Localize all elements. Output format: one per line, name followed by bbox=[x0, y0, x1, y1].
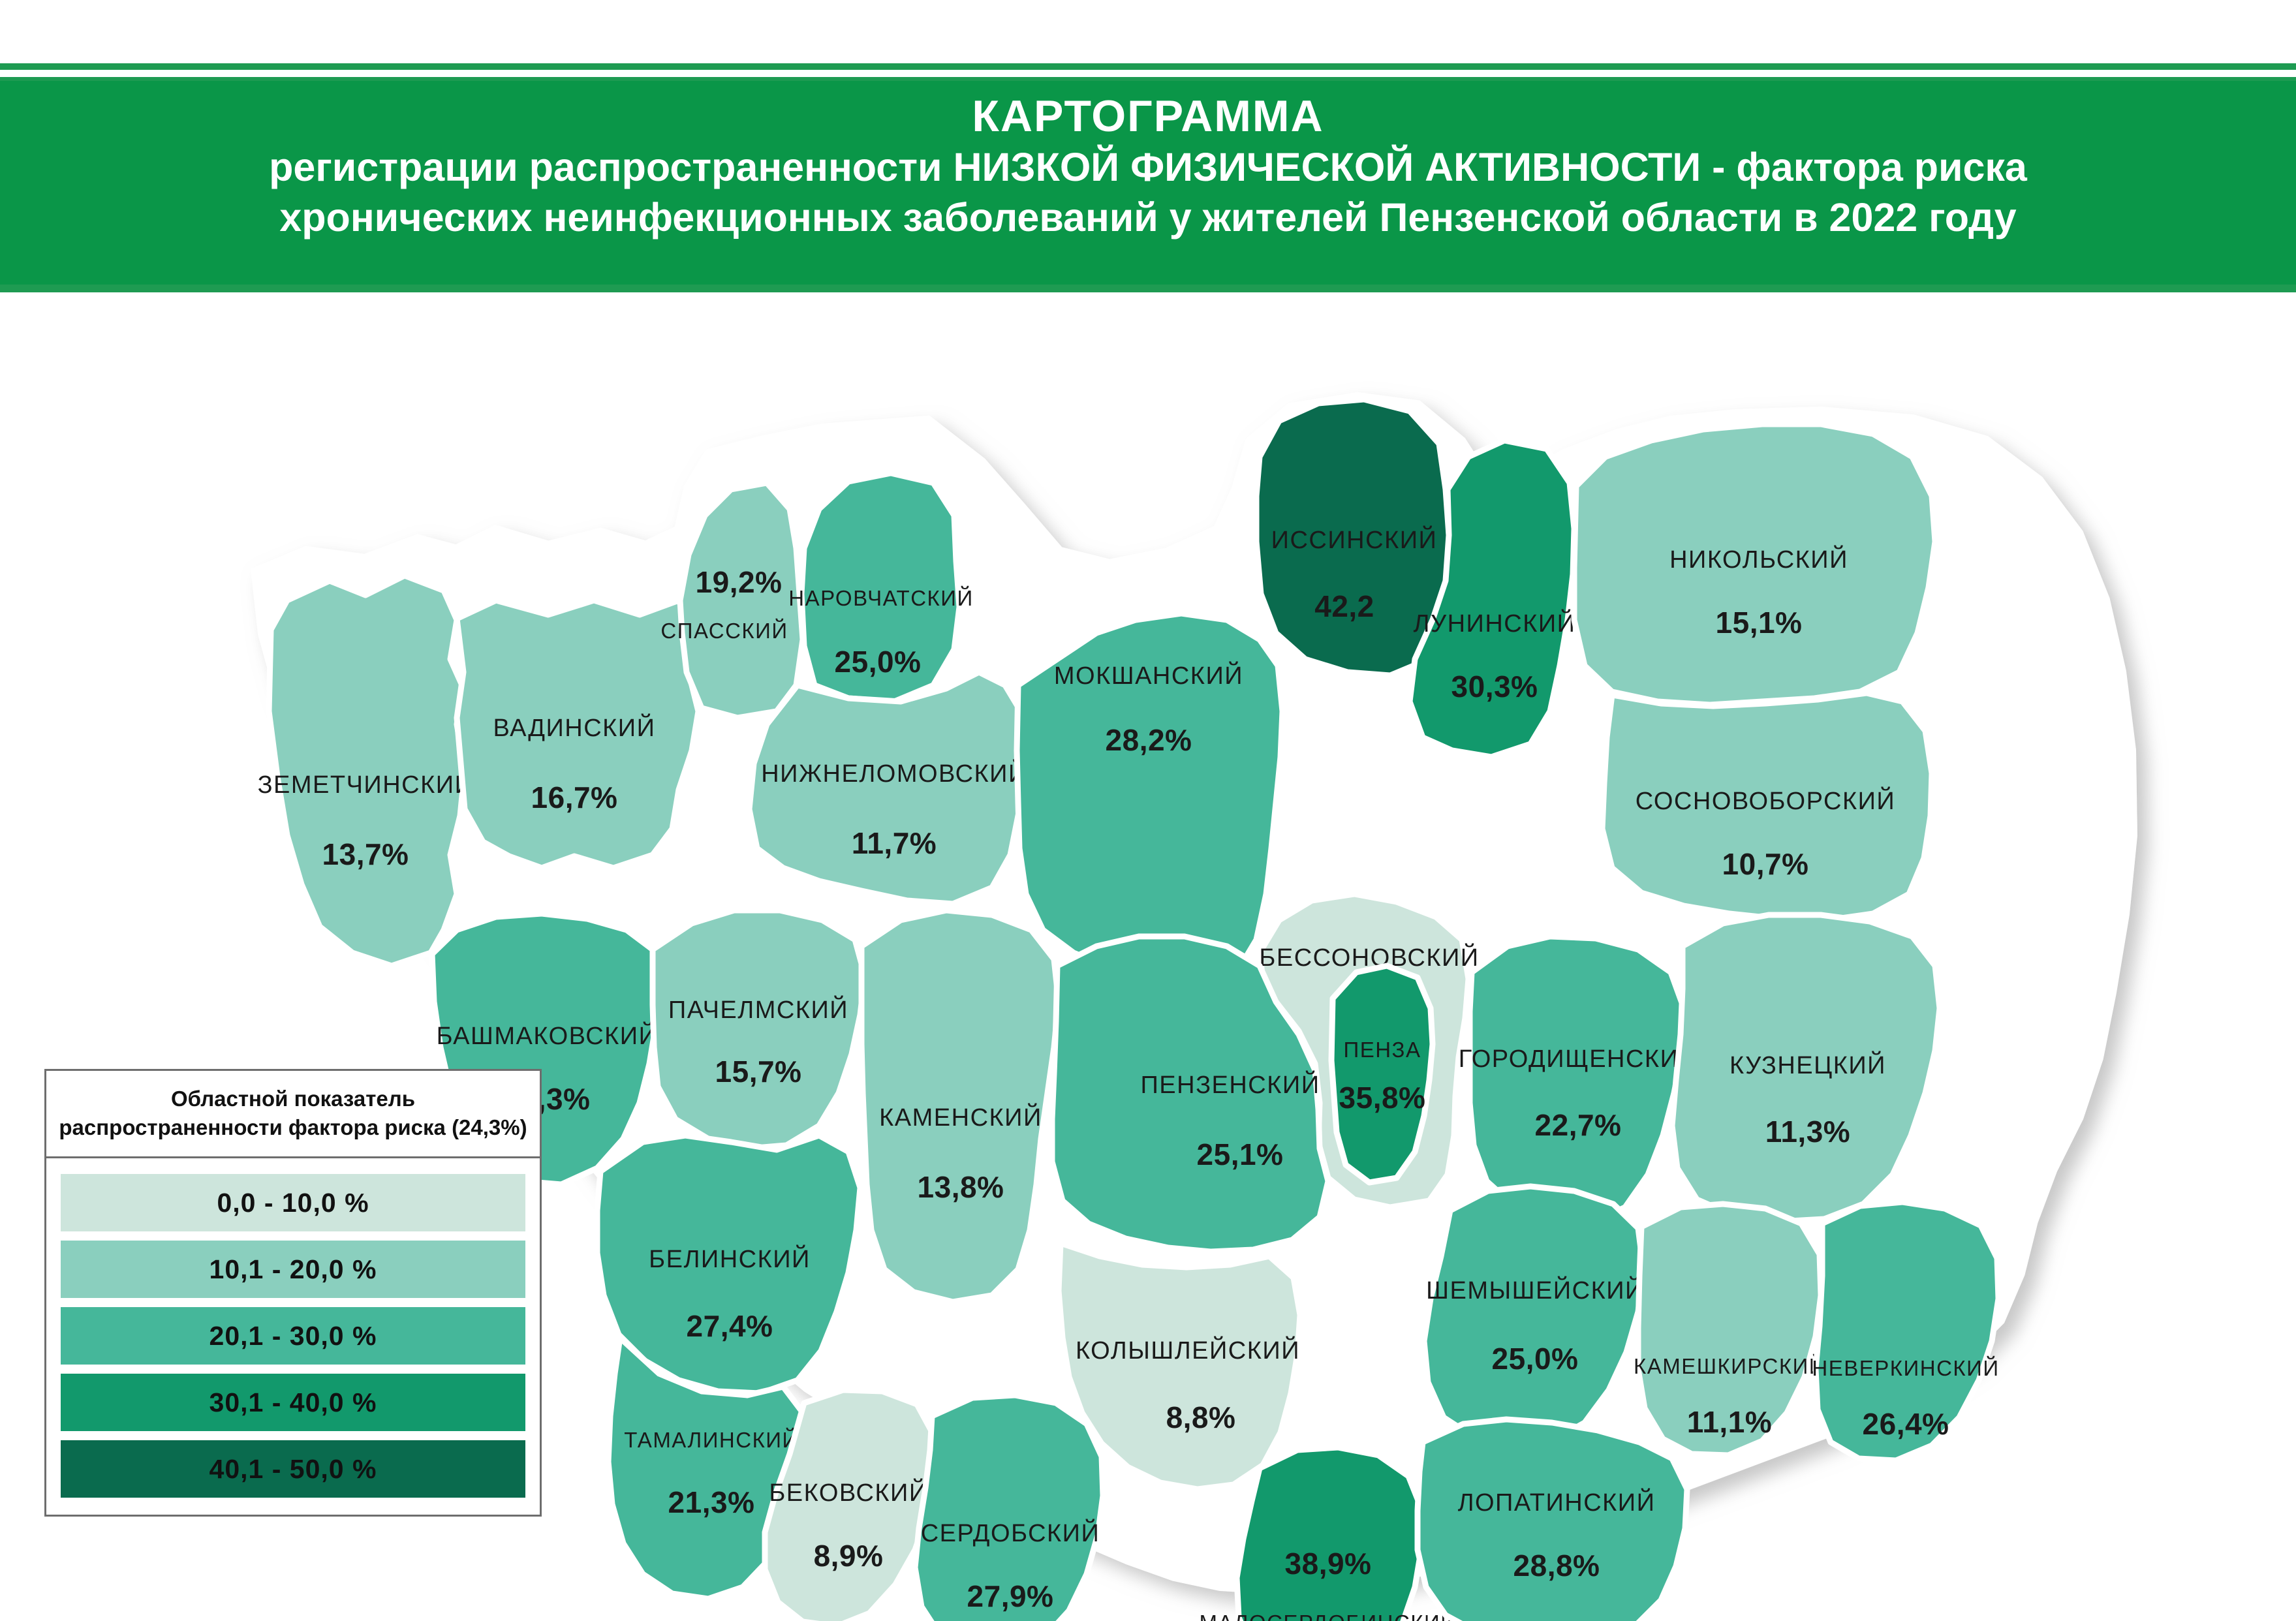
page-title: КАРТОГРАММА bbox=[972, 90, 1324, 142]
legend-header: Областной показатель распространенности … bbox=[46, 1071, 540, 1158]
header-subtitle-line-1: регистрации распространенности НИЗКОЙ ФИ… bbox=[269, 142, 2027, 193]
district-nizhnelomovsky-value: 11,7% bbox=[852, 826, 937, 860]
district-tamalinsky-name: ТАМАЛИНСКИЙ bbox=[624, 1428, 799, 1452]
district-penza-value: 35,8% bbox=[1339, 1081, 1426, 1115]
district-issinsky-name: ИССИНСКИЙ bbox=[1271, 525, 1438, 554]
district-kamensky-value: 13,8% bbox=[918, 1170, 1004, 1204]
legend-row-class-5[interactable]: 40,1 - 50,0 % bbox=[61, 1440, 525, 1498]
district-neverkinsky-name: НЕВЕРКИНСКИЙ bbox=[1812, 1356, 1999, 1380]
header-banner: КАРТОГРАММА регистрации распространеннос… bbox=[0, 81, 2296, 285]
district-issinsky-value: 42,2 bbox=[1314, 589, 1374, 623]
district-luninsky-name: ЛУНИНСКИЙ bbox=[1414, 608, 1576, 638]
district-nikolsky-name: НИКОЛЬСКИЙ bbox=[1669, 544, 1848, 574]
district-tamalinsky-value: 21,3% bbox=[668, 1485, 755, 1519]
legend-label-class-1: 0,0 - 10,0 % bbox=[217, 1188, 369, 1218]
district-narovchatsky-name: НАРОВЧАТСКИЙ bbox=[788, 586, 973, 610]
district-mokshansky-value: 28,2% bbox=[1106, 723, 1192, 757]
district-penzensky-name: ПЕНЗЕНСКИЙ bbox=[1140, 1070, 1320, 1099]
district-neverkinsky[interactable]: НЕВЕРКИНСКИЙ 26,4% bbox=[1812, 1202, 1999, 1460]
legend-label-class-2: 10,1 - 20,0 % bbox=[209, 1254, 377, 1285]
district-narovchatsky-value: 25,0% bbox=[835, 645, 922, 679]
district-maloserdobinsky-name: МАЛОСЕРДОБИНСКИЙ bbox=[1200, 1611, 1457, 1621]
district-zemetchinsky-name: ЗЕМЕТЧИНСКИЙ bbox=[258, 769, 474, 799]
district-neverkinsky-value: 26,4% bbox=[1863, 1407, 1949, 1441]
district-maloserdobinsky-shape[interactable] bbox=[1237, 1447, 1421, 1621]
district-maloserdobinsky-value: 38,9% bbox=[1285, 1547, 1372, 1581]
district-vadinsky-name: ВАДИНСКИЙ bbox=[493, 713, 656, 742]
district-penza-name: ПЕНЗА bbox=[1343, 1038, 1421, 1062]
district-nikolsky-value: 15,1% bbox=[1716, 606, 1803, 640]
district-penzensky-value: 25,1% bbox=[1197, 1137, 1284, 1171]
district-pachelmsky-name: ПАЧЕЛМСКИЙ bbox=[668, 995, 848, 1024]
district-spassky-name: СПАССКИЙ bbox=[660, 619, 788, 643]
district-lopatinsky-name: ЛОПАТИНСКИЙ bbox=[1458, 1487, 1656, 1517]
legend-title-line-2-text: распространенности фактора риска bbox=[59, 1115, 452, 1139]
district-penza[interactable]: ПЕНЗА 35,8% bbox=[1331, 966, 1433, 1182]
legend-row-class-4[interactable]: 30,1 - 40,0 % bbox=[61, 1374, 525, 1431]
district-gorodischensky-value: 22,7% bbox=[1535, 1108, 1622, 1142]
legend-oblast-indicator: (24,3%) bbox=[452, 1115, 527, 1139]
district-zemetchinsky-value: 13,7% bbox=[322, 837, 409, 871]
district-belinsky-name: БЕЛИНСКИЙ bbox=[649, 1244, 811, 1273]
district-vadinsky-value: 16,7% bbox=[531, 780, 618, 814]
district-shemysheysky-name: ШЕМЫШЕЙСКИЙ bbox=[1426, 1275, 1644, 1305]
district-penza-shape[interactable] bbox=[1331, 966, 1433, 1182]
legend-label-class-4: 30,1 - 40,0 % bbox=[209, 1387, 377, 1418]
legend-label-class-3: 20,1 - 30,0 % bbox=[209, 1321, 377, 1351]
district-zemetchinsky-shape[interactable] bbox=[269, 576, 465, 966]
map-legend: Областной показатель распространенности … bbox=[44, 1069, 542, 1517]
legend-label-class-5: 40,1 - 50,0 % bbox=[209, 1454, 377, 1485]
district-zemetchinsky[interactable]: ЗЕМЕТЧИНСКИЙ 13,7% bbox=[258, 576, 474, 966]
district-lopatinsky-value: 28,8% bbox=[1513, 1549, 1600, 1582]
district-kameshkirsky-value: 11,1% bbox=[1687, 1405, 1772, 1439]
district-sosnovoborsky[interactable]: СОСНОВОБОРСКИЙ 10,7% bbox=[1602, 693, 1932, 920]
legend-row-class-1[interactable]: 0,0 - 10,0 % bbox=[61, 1174, 525, 1231]
district-kolyshleysky-value: 8,8% bbox=[1166, 1400, 1236, 1434]
district-sosnovoborsky-name: СОСНОВОБОРСКИЙ bbox=[1636, 786, 1895, 815]
district-serdobsky[interactable]: СЕРДОБСКИЙ 27,9% bbox=[915, 1395, 1103, 1621]
district-shemysheysky-value: 25,0% bbox=[1492, 1342, 1579, 1376]
legend-row-class-3[interactable]: 20,1 - 30,0 % bbox=[61, 1307, 525, 1365]
district-luninsky-value: 30,3% bbox=[1451, 670, 1538, 703]
district-mokshansky[interactable]: МОКШАНСКИЙ 28,2% bbox=[1017, 613, 1282, 984]
district-serdobsky-name: СЕРДОБСКИЙ bbox=[921, 1518, 1100, 1547]
district-bashmakovsky-name: БАШМАКОВСКИЙ bbox=[437, 1021, 658, 1050]
district-kolyshleysky-name: КОЛЫШЛЕЙСКИЙ bbox=[1076, 1335, 1300, 1365]
header-stripe-middle bbox=[0, 70, 2296, 77]
district-sosnovoborsky-value: 10,7% bbox=[1722, 847, 1809, 881]
district-kameshkirsky-name: КАМЕШКИРСКИЙ bbox=[1634, 1354, 1825, 1378]
district-gorodischensky-name: ГОРОДИЩЕНСКИЙ bbox=[1459, 1043, 1698, 1073]
district-kuznetsky-name: КУЗНЕЦКИЙ bbox=[1730, 1050, 1886, 1079]
district-kuznetsky-value: 11,3% bbox=[1765, 1115, 1850, 1149]
district-mokshansky-name: МОКШАНСКИЙ bbox=[1054, 660, 1243, 690]
district-spassky-value: 19,2% bbox=[696, 565, 783, 599]
district-kamensky-name: КАМЕНСКИЙ bbox=[879, 1102, 1042, 1132]
district-pachelmsky-value: 15,7% bbox=[715, 1055, 802, 1088]
district-serdobsky-value: 27,9% bbox=[967, 1579, 1054, 1613]
district-bekovsky-value: 8,9% bbox=[814, 1539, 884, 1573]
district-nikolsky[interactable]: НИКОЛЬСКИЙ 15,1% bbox=[1574, 424, 1935, 705]
district-nizhnelomovsky[interactable]: НИЖНЕЛОМОВСКИЙ 11,7% bbox=[749, 672, 1027, 904]
header-rule-bottom bbox=[0, 285, 2296, 292]
district-lopatinsky[interactable]: ЛОПАТИНСКИЙ 28,8% bbox=[1418, 1419, 1687, 1621]
header-stripe-top bbox=[0, 63, 2296, 70]
district-nizhnelomovsky-name: НИЖНЕЛОМОВСКИЙ bbox=[761, 758, 1027, 788]
district-lopatinsky-shape[interactable] bbox=[1418, 1419, 1687, 1621]
legend-swatch-list: 0,0 - 10,0 % 10,1 - 20,0 % 20,1 - 30,0 %… bbox=[46, 1158, 540, 1515]
legend-row-class-2[interactable]: 10,1 - 20,0 % bbox=[61, 1241, 525, 1298]
district-nizhnelomovsky-shape[interactable] bbox=[749, 672, 1026, 904]
district-belinsky-value: 27,4% bbox=[687, 1309, 773, 1343]
header-subtitle-line-2: хронических неинфекционных заболеваний у… bbox=[279, 193, 2016, 243]
district-bekovsky-name: БЕКОВСКИЙ bbox=[769, 1477, 927, 1507]
legend-title-line-2: распространенности фактора риска (24,3%) bbox=[55, 1112, 531, 1143]
legend-title-line-1: Областной показатель bbox=[55, 1085, 531, 1112]
